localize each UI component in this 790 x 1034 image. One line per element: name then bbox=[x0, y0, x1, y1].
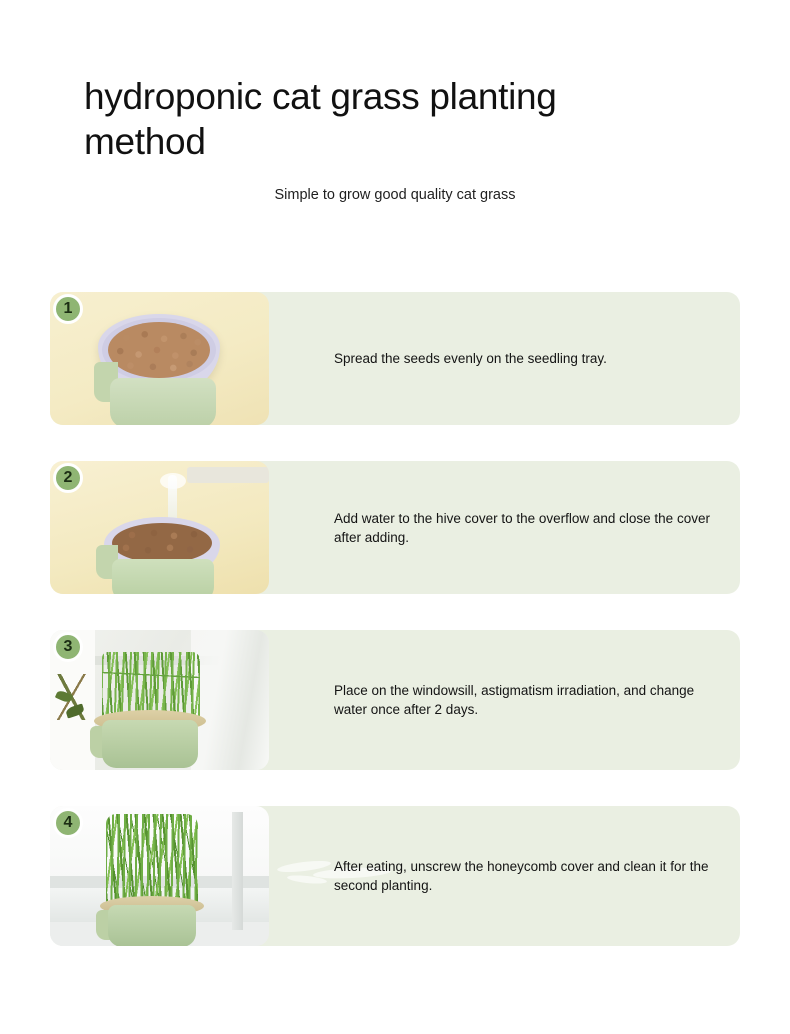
step-number-badge: 4 bbox=[53, 808, 83, 838]
step-description-text: Place on the windowsill, astigmatism irr… bbox=[334, 681, 724, 719]
pouring-water-into-pot-photo bbox=[50, 461, 269, 594]
step-description: Place on the windowsill, astigmatism irr… bbox=[334, 630, 724, 770]
step-description: Add water to the hive cover to the overf… bbox=[334, 461, 724, 594]
step-description: Spread the seeds evenly on the seedling … bbox=[334, 292, 724, 425]
step-row: 1 Spread the seeds evenly on the seedlin… bbox=[50, 292, 740, 425]
step-number-label: 2 bbox=[64, 469, 73, 487]
step-row: 3 Place on the windowsill, astigmatism i… bbox=[50, 630, 740, 770]
step-number-badge: 1 bbox=[53, 294, 83, 324]
step-description-text: After eating, unscrew the honeycomb cove… bbox=[334, 857, 724, 895]
step-row: 2 Add water to the hive cover to the ove… bbox=[50, 461, 740, 594]
step-row: 4 After eating, unscrew the honeycomb co… bbox=[50, 806, 740, 946]
cat-grass-at-window-photo bbox=[50, 630, 269, 770]
grown-cat-grass-on-windowsill-photo bbox=[50, 806, 269, 946]
step-number-label: 4 bbox=[64, 814, 73, 832]
step-description: After eating, unscrew the honeycomb cove… bbox=[334, 806, 724, 946]
step-description-text: Spread the seeds evenly on the seedling … bbox=[334, 349, 607, 368]
step-number-label: 3 bbox=[64, 638, 73, 656]
step-description-text: Add water to the hive cover to the overf… bbox=[334, 509, 724, 547]
seeds-in-seedling-tray-photo bbox=[50, 292, 269, 425]
step-number-badge: 3 bbox=[53, 632, 83, 662]
steps-list: 1 Spread the seeds evenly on the seedlin… bbox=[0, 292, 790, 982]
page-subtitle: Simple to grow good quality cat grass bbox=[0, 185, 790, 205]
page-title: hydroponic cat grass planting method bbox=[84, 74, 684, 164]
step-number-label: 1 bbox=[64, 300, 73, 318]
step-number-badge: 2 bbox=[53, 463, 83, 493]
